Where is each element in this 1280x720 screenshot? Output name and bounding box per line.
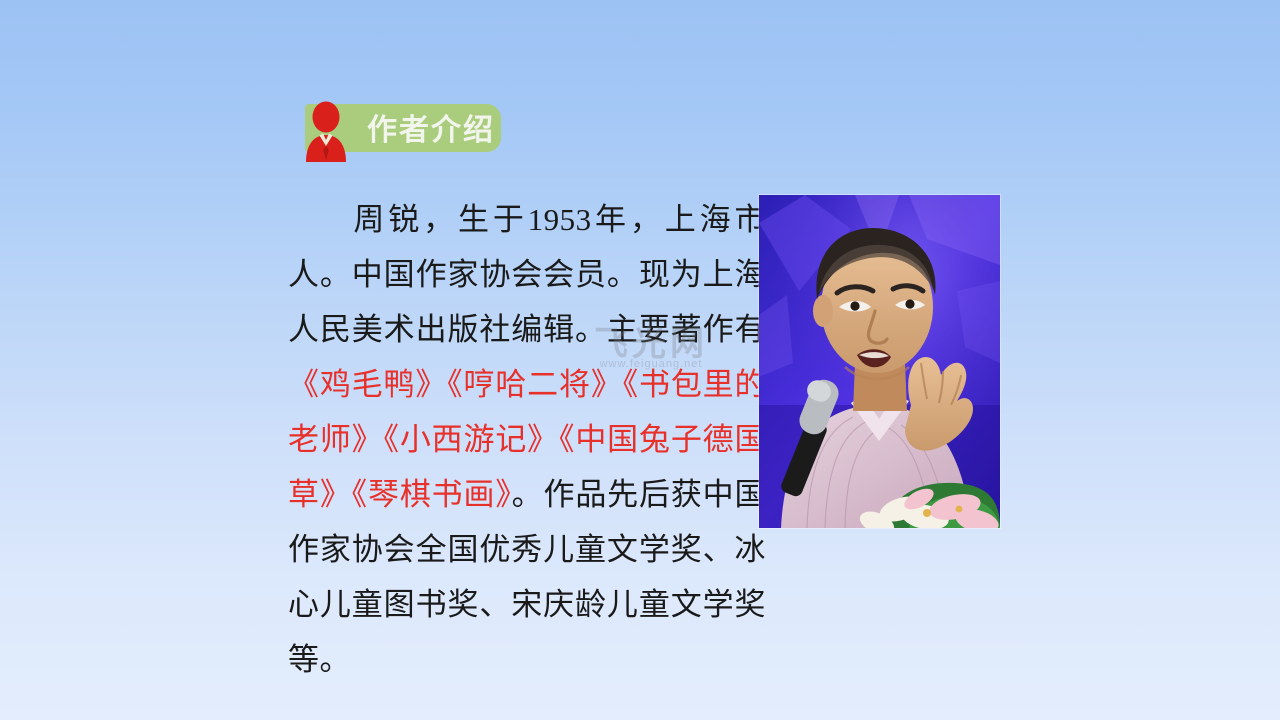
slide-canvas: 作者介绍 周锐，生于1953年，上海市人。中国作家协会会员。现为上海人民美术出版… [0,0,1280,720]
author-photo [759,195,1000,528]
section-title-label: 作者介绍 [367,105,495,149]
person-bust-icon [302,100,350,162]
author-bio-paragraph: 周锐，生于1953年，上海市人。中国作家协会会员。现为上海人民美术出版社编辑。主… [288,192,766,687]
bio-text-part-1: 周锐，生于1953年，上海市人。中国作家协会会员。现为上海人民美术出版社编辑。主… [288,202,766,347]
